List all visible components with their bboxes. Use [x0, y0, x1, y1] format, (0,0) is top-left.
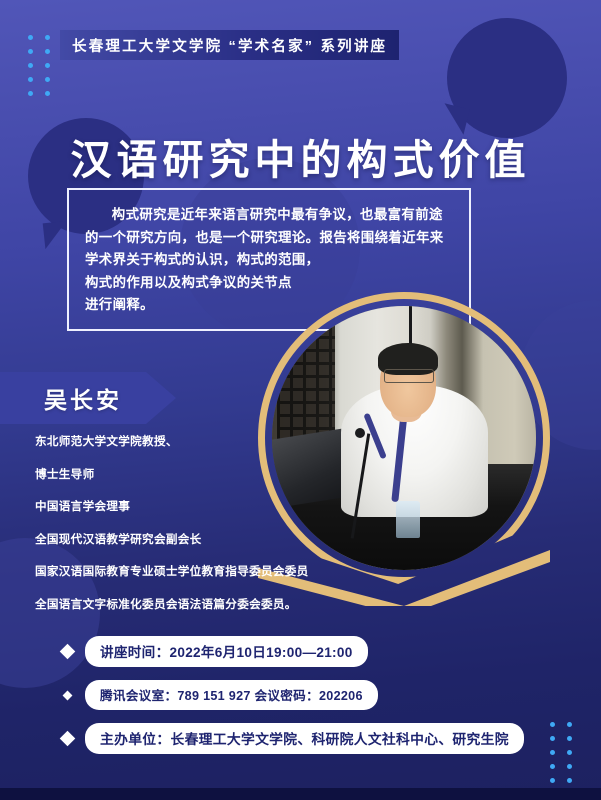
lecture-poster: 长春理工大学文学院 “学术名家” 系列讲座 汉语研究中的构式价值 构式研究是近年… — [0, 0, 601, 800]
photo-speaker-glasses — [384, 369, 434, 383]
credential-item: 博士生导师 — [35, 467, 365, 483]
diamond-bullet-icon — [60, 731, 76, 747]
speech-bubble-top-right — [447, 18, 567, 138]
event-info-list: 讲座时间：2022年6月10日19:00—21:00 腾讯会议室：789 151… — [62, 636, 542, 767]
info-row-time: 讲座时间：2022年6月10日19:00—21:00 — [62, 636, 542, 667]
photo-water-bottle — [396, 501, 420, 538]
speaker-credentials: 东北师范大学文学院教授、 博士生导师 中国语言学会理事 全国现代汉语教学研究会副… — [35, 434, 365, 629]
dot-grid-bottom-right — [550, 722, 572, 783]
photo-ceiling-cable — [409, 306, 412, 348]
credential-item: 全国语言文字标准化委员会语法语篇分委会委员。 — [35, 597, 365, 613]
meeting-room-pill: 腾讯会议室：789 151 927 会议密码：202206 — [85, 680, 378, 710]
photo-lattice-screen — [277, 322, 335, 443]
credential-item: 国家汉语国际教育专业硕士学位教育指导委员会委员 — [35, 564, 365, 580]
info-row-organizer: 主办单位：长春理工大学文学院、科研院人文社科中心、研究生院 — [62, 723, 542, 754]
organizer-pill: 主办单位：长春理工大学文学院、科研院人文社科中心、研究生院 — [85, 723, 524, 754]
credential-item: 中国语言学会理事 — [35, 499, 365, 515]
diamond-bullet-icon — [60, 644, 76, 660]
speaker-name-banner: 吴长安 — [0, 372, 176, 424]
info-row-meeting: 腾讯会议室：789 151 927 会议密码：202206 — [62, 680, 542, 710]
series-banner: 长春理工大学文学院 “学术名家” 系列讲座 — [60, 30, 399, 60]
lecture-time-pill: 讲座时间：2022年6月10日19:00—21:00 — [85, 636, 368, 667]
diamond-bullet-icon — [63, 690, 73, 700]
credential-item: 全国现代汉语教学研究会副会长 — [35, 532, 365, 548]
dot-grid-top-left — [28, 35, 50, 96]
page-title: 汉语研究中的构式价值 — [0, 126, 601, 186]
bottom-strip — [0, 788, 601, 800]
speech-bubble-tail — [43, 221, 70, 249]
speaker-name: 吴长安 — [0, 381, 122, 415]
credential-item: 东北师范大学文学院教授、 — [35, 434, 365, 450]
series-banner-text: 长春理工大学文学院 “学术名家” 系列讲座 — [72, 35, 387, 56]
